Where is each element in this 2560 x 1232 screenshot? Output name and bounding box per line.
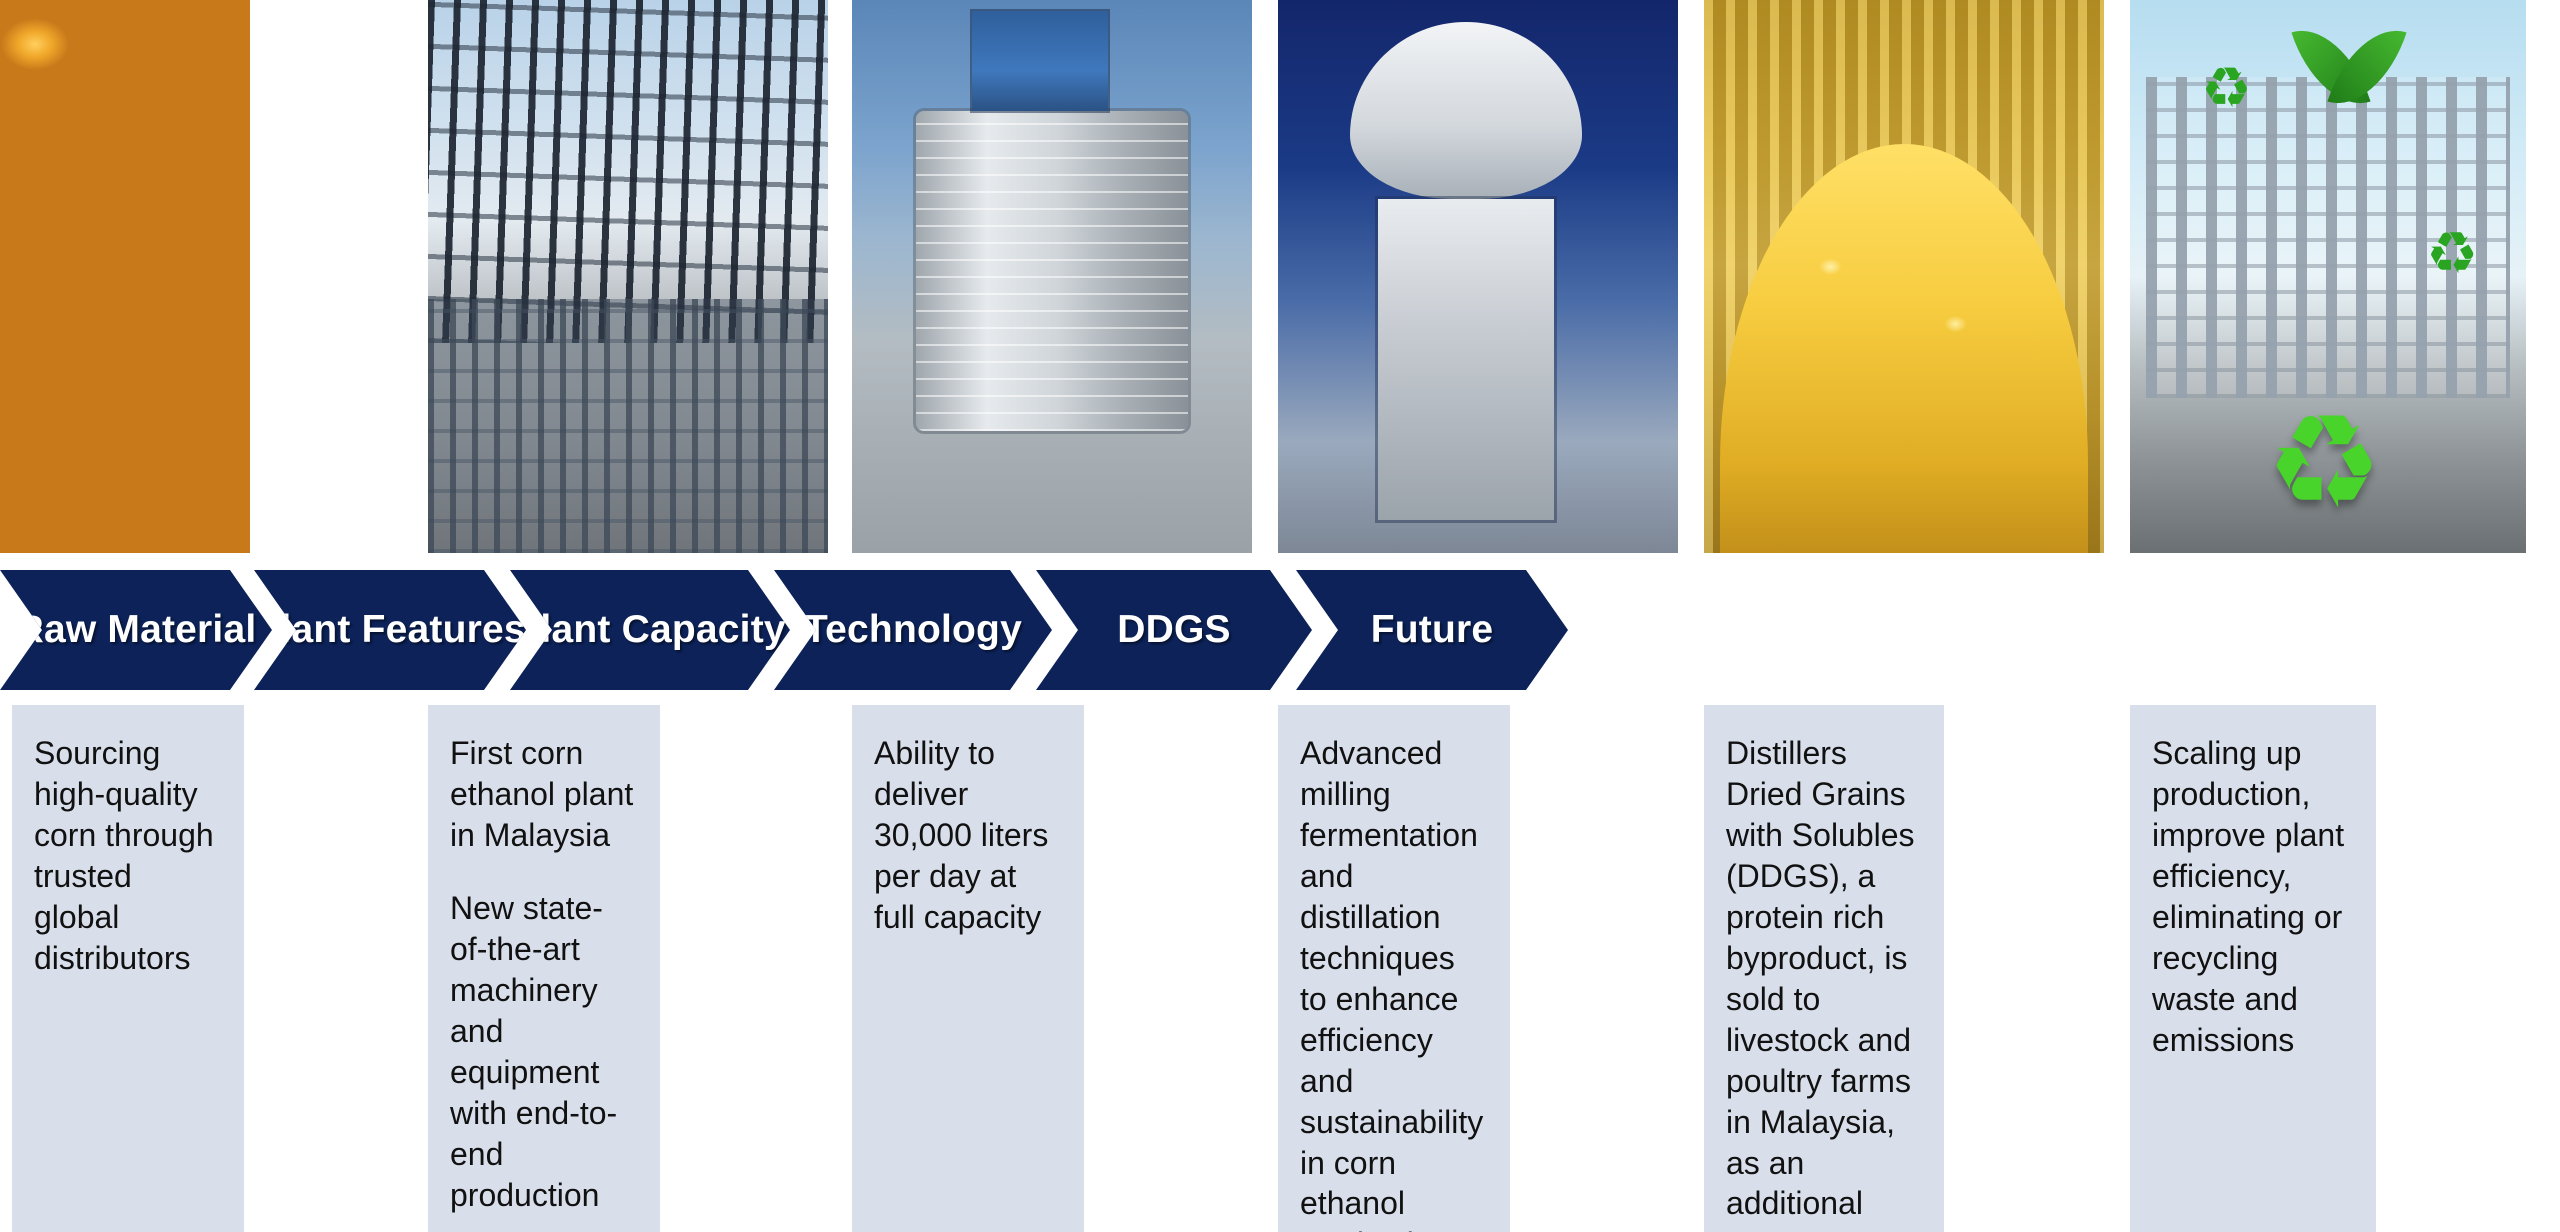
stage-banner-label: Future	[1371, 608, 1494, 652]
stage-banner-ddgs[interactable]: DDGS	[1036, 570, 1312, 690]
stage-description-plant-features: First corn ethanol plant in Malaysia New…	[428, 705, 660, 1232]
stage-image-plant-capacity	[852, 0, 1252, 553]
stage-banner-technology[interactable]: Technology	[774, 570, 1052, 690]
description-paragraph: New state-of-the-art machinery and equip…	[450, 888, 638, 1216]
stage-description-technology: Advanced milling fermentation and distil…	[1278, 705, 1510, 1232]
corn-pile-icon	[1704, 0, 2104, 553]
recycle-icon: ♻	[2233, 387, 2415, 531]
stage-description-ddgs: Distillers Dried Grains with Solubles (D…	[1704, 705, 1944, 1232]
corn-kernels-icon	[0, 0, 250, 553]
description-paragraph: Distillers Dried Grains with Solubles (D…	[1726, 733, 1922, 1232]
industrial-plant-icon	[428, 0, 828, 553]
description-paragraph: Ability to deliver 30,000 liters per day…	[874, 733, 1062, 938]
stage-banner-label: Raw Material	[16, 608, 257, 652]
recycle-icon: ♻	[2415, 221, 2489, 291]
stage-banner-label: DDGS	[1117, 608, 1230, 652]
process-flow-infographic: ♻ ♻ ♻ Raw Material Plant Features Plant …	[0, 0, 2560, 1232]
stage-description-raw-material: Sourcing high-quality corn through trust…	[12, 705, 244, 1232]
description-paragraph: First corn ethanol plant in Malaysia	[450, 733, 638, 856]
stage-banner-label: Plant Capacity	[514, 608, 786, 652]
description-paragraph: Advanced milling fermentation and distil…	[1300, 733, 1488, 1232]
stage-image-plant-features	[428, 0, 828, 553]
stage-description-future: Scaling up production, improve plant eff…	[2130, 705, 2376, 1232]
stage-description-plant-capacity: Ability to deliver 30,000 liters per day…	[852, 705, 1084, 1232]
recycle-icon: ♻	[2189, 55, 2263, 125]
green-refinery-icon: ♻ ♻ ♻	[2130, 0, 2526, 553]
stage-banner-future[interactable]: Future	[1296, 570, 1568, 690]
description-paragraph: Scaling up production, improve plant eff…	[2152, 733, 2354, 1061]
stage-banner-plant-capacity[interactable]: Plant Capacity	[510, 570, 790, 690]
stage-image-technology	[1278, 0, 1678, 553]
storage-silo-icon	[852, 0, 1252, 553]
stage-image-future: ♻ ♻ ♻	[2130, 0, 2526, 553]
stage-banner-label: Plant Features	[254, 608, 526, 652]
stage-banner-plant-features[interactable]: Plant Features	[254, 570, 526, 690]
stage-banner-raw-material[interactable]: Raw Material	[0, 570, 272, 690]
milling-machine-icon	[1278, 0, 1678, 553]
stage-image-ddgs	[1704, 0, 2104, 553]
description-paragraph: Sourcing high-quality corn through trust…	[34, 733, 222, 979]
stage-image-raw-material	[0, 0, 250, 553]
stage-banner-label: Technology	[804, 608, 1022, 652]
